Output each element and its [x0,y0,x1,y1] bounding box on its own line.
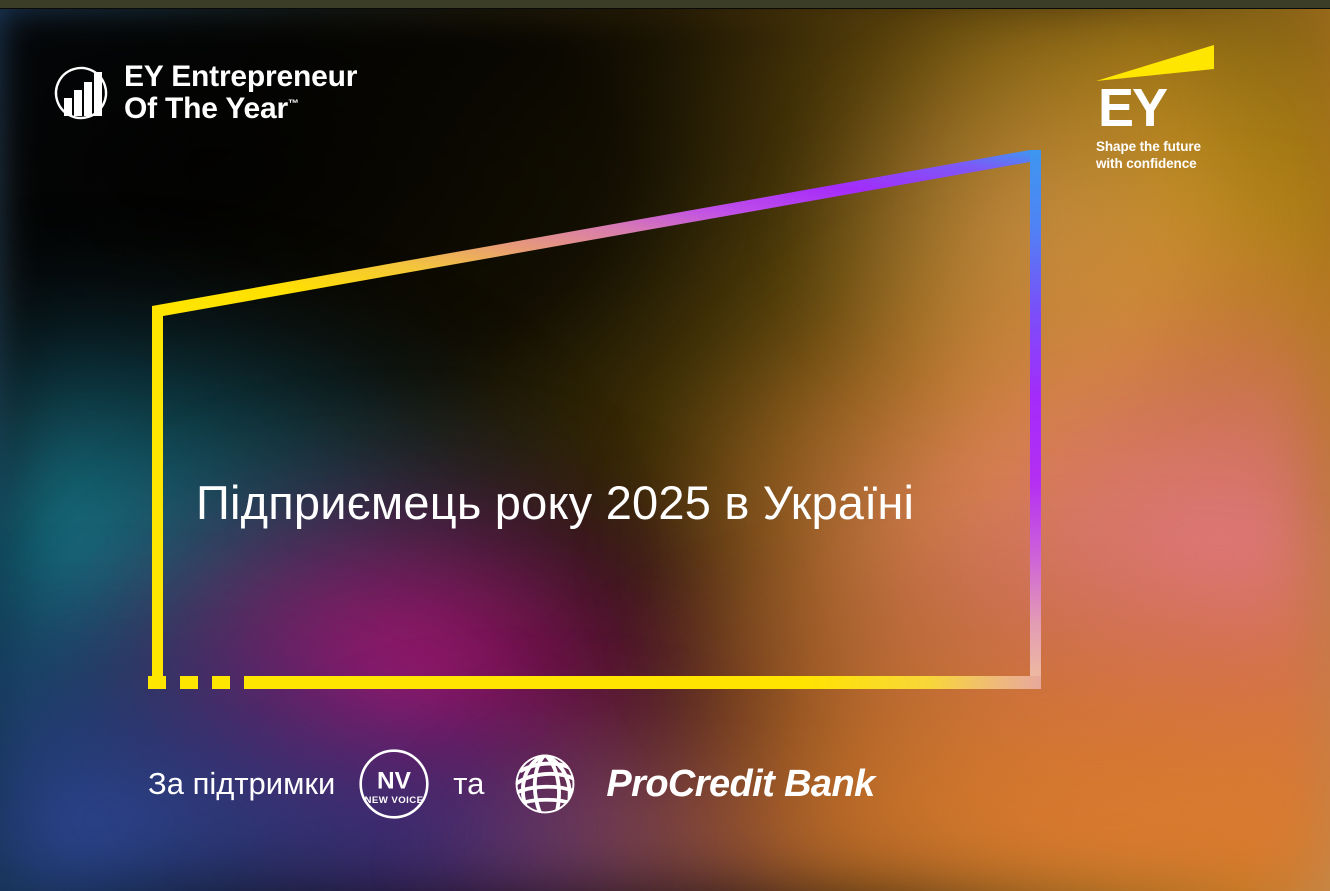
bar-chart-circle-icon [52,64,110,122]
eoy-wordmark: EY Entrepreneur Of The Year™ [124,61,357,126]
sponsors-conjunction-label: та [453,766,484,802]
ey-monogram: EY [1096,86,1256,131]
ey-tagline-line2: with confidence [1096,156,1256,173]
page-title: Підприємець року 2025 в Україні [196,475,914,530]
nv-name: NEW VOICE [365,795,424,806]
poster-stage: EY Entrepreneur Of The Year™ EY Shape th… [0,9,1330,891]
nv-circle-logo-icon: NV NEW VOICE [357,747,431,821]
ey-yellow-beam-icon [1096,43,1218,83]
sponsors-prefix-label: За підтримки [148,766,335,802]
procredit-bank-wordmark: ProCredit Bank [606,763,874,806]
eoy-wordmark-line2-wrap: Of The Year™ [124,93,357,125]
ey-tagline: Shape the future with confidence [1096,139,1256,172]
eoy-wordmark-line1: EY Entrepreneur [124,61,357,93]
nv-initials: NV [377,767,412,794]
trademark-symbol: ™ [288,98,299,110]
ey-tagline-line1: Shape the future [1096,139,1256,156]
sponsors-row: За підтримки NV NEW VOICE та Pr [148,747,875,821]
ey-entrepreneur-of-the-year-logo: EY Entrepreneur Of The Year™ [52,61,357,126]
procredit-globe-icon [510,749,580,819]
eoy-wordmark-line2: Of The Year [124,92,288,125]
ey-corporate-logo: EY Shape the future with confidence [1096,43,1256,173]
top-edge-strip [0,0,1330,9]
